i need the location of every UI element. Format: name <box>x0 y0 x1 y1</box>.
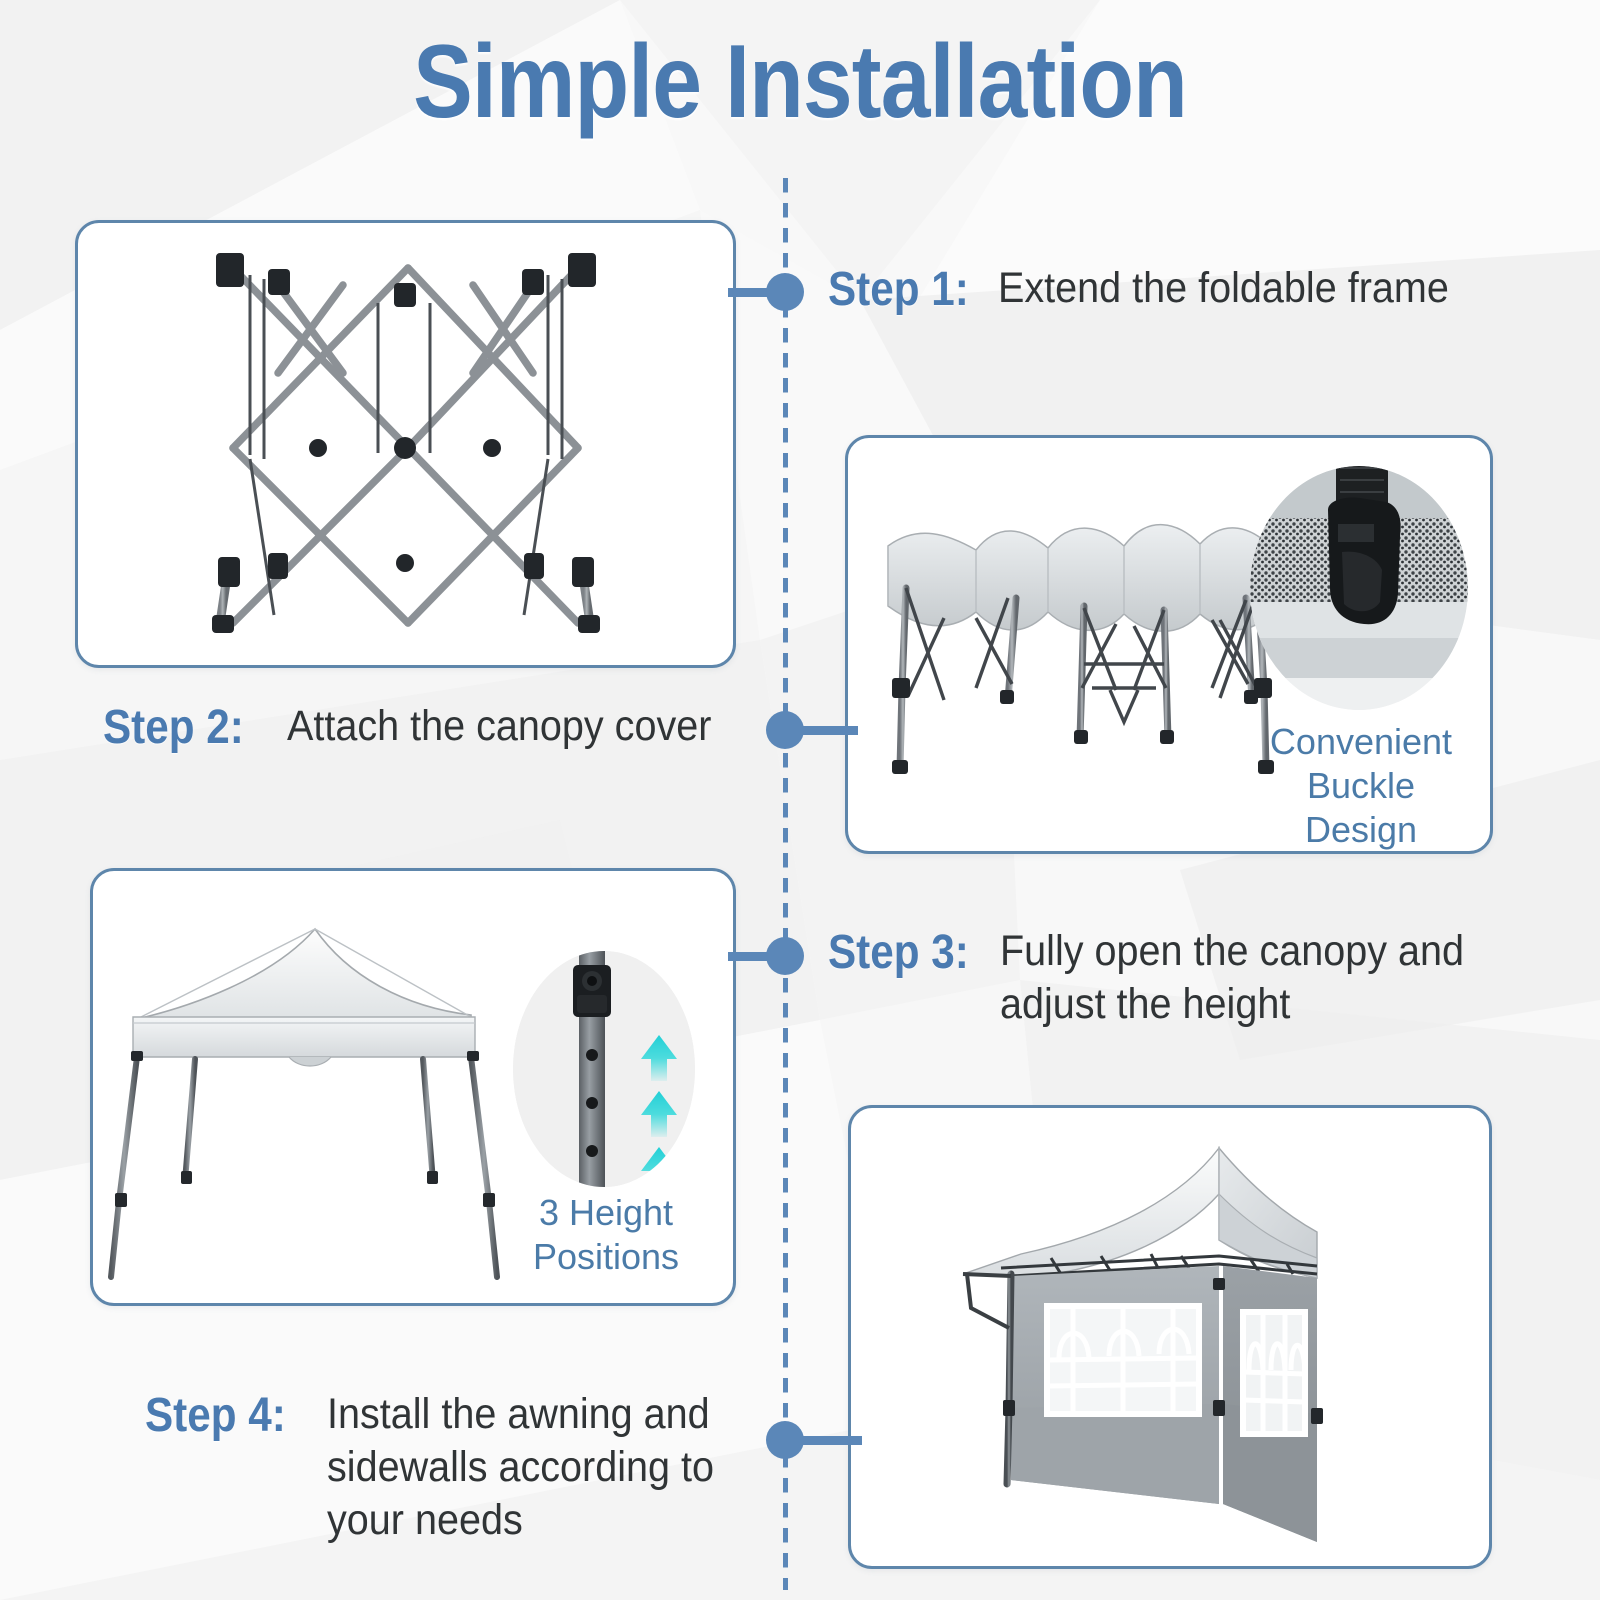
buckle-caption-line-2: Buckle Design <box>1246 764 1476 852</box>
step-3-label: Step 3: <box>828 925 969 981</box>
connector-line <box>796 1436 862 1445</box>
connector-dot <box>766 937 804 975</box>
height-adjust-inset <box>513 951 695 1187</box>
height-caption-line-2: Positions <box>501 1235 711 1279</box>
height-pole-closeup <box>513 951 695 1187</box>
step-4-connector <box>766 1420 862 1460</box>
step-2-text: Step 2: Attach the canopy cover <box>100 700 748 756</box>
step-1-text: Step 1: Extend the foldable frame <box>828 262 1568 318</box>
sidewall-canopy-illustration <box>851 1108 1489 1566</box>
canopy-cover-photo: Convenient Buckle Design <box>848 438 1490 851</box>
step-1-card[interactable] <box>75 220 736 668</box>
buckle-photo <box>1250 466 1468 710</box>
buckle-caption-line-1: Convenient <box>1246 720 1476 764</box>
height-caption: 3 Height Positions <box>501 1191 711 1279</box>
folded-frame-illustration <box>78 223 733 665</box>
step-3-body-line-2: adjust the height <box>1000 978 1464 1031</box>
infographic-root: Simple Installation <box>0 0 1600 1600</box>
connector-dot <box>766 711 804 749</box>
step-1-label: Step 1: <box>828 262 969 318</box>
step-4-body-line-2: sidewalls according to <box>327 1441 714 1494</box>
step-1-body: Extend the foldable frame <box>998 262 1449 315</box>
step-1-connector <box>728 272 804 312</box>
canopy-with-sidewalls-photo <box>851 1108 1489 1566</box>
step-4-card[interactable] <box>848 1105 1492 1569</box>
page-title: Simple Installation <box>112 28 1488 137</box>
folded-frame-photo <box>78 223 733 665</box>
connector-dot <box>766 1421 804 1459</box>
open-canopy-photo: 3 Height Positions <box>93 871 733 1303</box>
step-3-text: Step 3: Fully open the canopy and adjust… <box>828 925 1578 1031</box>
step-3-connector <box>728 936 804 976</box>
step-3-card[interactable]: 3 Height Positions <box>90 868 736 1306</box>
buckle-closeup-inset <box>1250 466 1468 710</box>
step-2-label: Step 2: <box>103 700 244 756</box>
buckle-caption: Convenient Buckle Design <box>1246 720 1476 852</box>
step-2-connector <box>766 710 858 750</box>
timeline-spine <box>783 178 788 1590</box>
step-4-body: Install the awning and sidewalls accordi… <box>327 1388 714 1547</box>
step-4-body-line-1: Install the awning and <box>327 1388 714 1441</box>
height-caption-line-1: 3 Height <box>501 1191 711 1235</box>
step-4-body-line-3: your needs <box>327 1494 714 1547</box>
connector-line <box>796 726 858 735</box>
step-2-body: Attach the canopy cover <box>287 700 711 753</box>
connector-dot <box>766 273 804 311</box>
step-3-body-line-1: Fully open the canopy and <box>1000 925 1464 978</box>
step-4-text: Step 4: Install the awning and sidewalls… <box>80 1388 748 1547</box>
step-4-label: Step 4: <box>145 1388 286 1444</box>
step-2-card[interactable]: Convenient Buckle Design <box>845 435 1493 854</box>
step-3-body: Fully open the canopy and adjust the hei… <box>1000 925 1464 1031</box>
